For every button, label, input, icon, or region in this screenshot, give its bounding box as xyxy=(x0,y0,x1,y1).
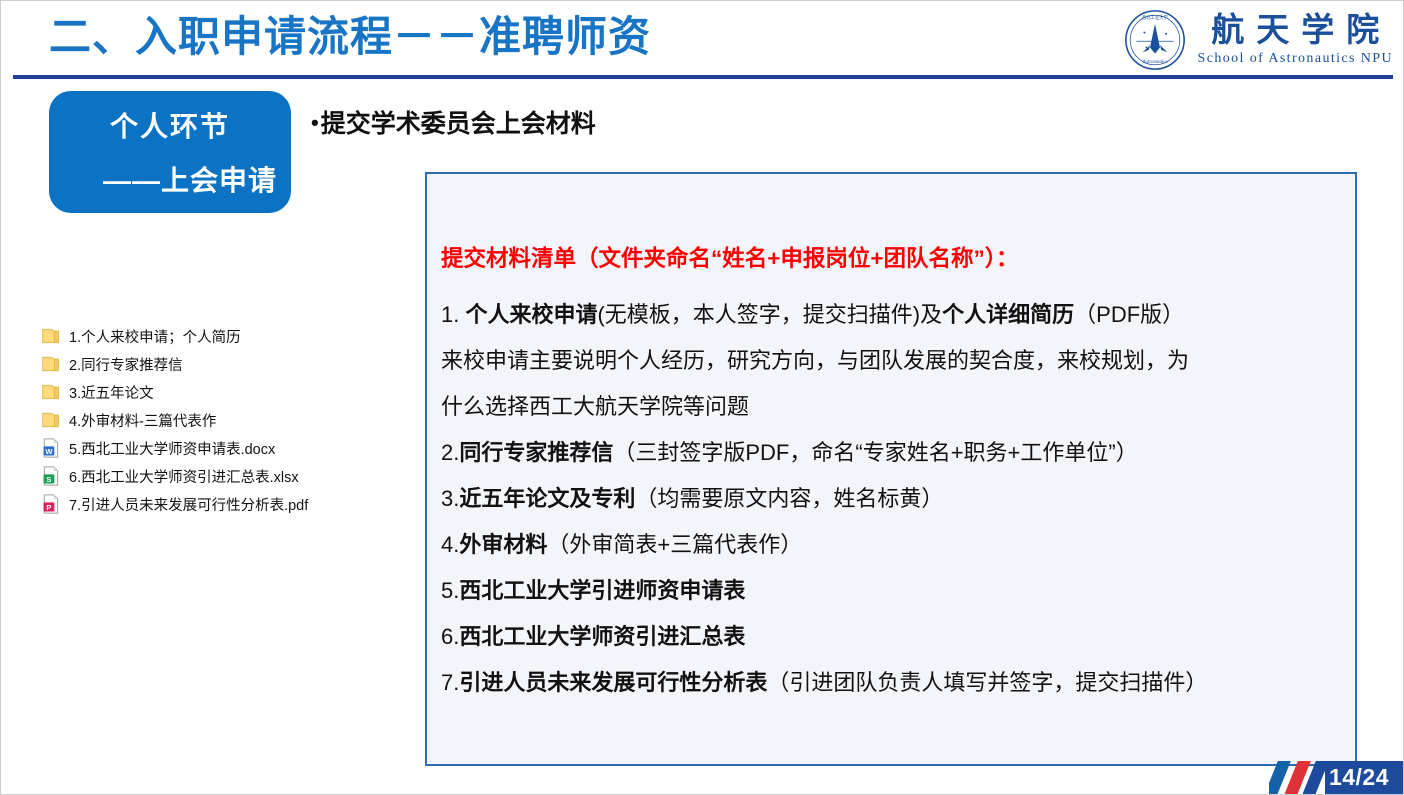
page-number-badge: 14/24 xyxy=(1269,761,1403,794)
npu-astronautics-seal-icon: Astronautics 西北工业大学 xyxy=(1124,9,1186,71)
file-list-item[interactable]: S6.西北工业大学师资引进汇总表.xlsx xyxy=(41,463,401,489)
checklist-line: 2.同行专家推荐信（三封签字版PDF，命名“专家姓名+职务+工作单位”） xyxy=(441,430,1337,476)
bullet-dot-icon: • xyxy=(311,110,319,135)
checklist-line: 1. 个人来校申请(无模板，本人签字，提交扫描件)及个人详细简历（PDF版） xyxy=(441,292,1337,338)
file-list-item-label: 7.引进人员未来发展可行性分析表.pdf xyxy=(69,494,308,515)
excel-file-icon: S xyxy=(41,466,61,486)
file-list-item[interactable]: 1.个人来校申请；个人简历 xyxy=(41,323,401,349)
checklist-line: 7.引进人员未来发展可行性分析表（引进团队负责人填写并签字，提交扫描件） xyxy=(441,660,1337,706)
slide-canvas: 二、入职申请流程－－准聘师资 Astronautics 西北工业大学 航天学院 … xyxy=(0,0,1404,795)
checklist-lines: 1. 个人来校申请(无模板，本人签字，提交扫描件)及个人详细简历（PDF版）来校… xyxy=(441,292,1337,706)
word-file-icon: W xyxy=(41,438,61,458)
school-logo: Astronautics 西北工业大学 航天学院 School of Astro… xyxy=(1124,7,1393,73)
materials-checklist-box: 提交材料清单（文件夹命名“姓名+申报岗位+团队名称”）： 1. 个人来校申请(无… xyxy=(425,172,1357,766)
stage-pill-line2: ——上会申请 xyxy=(63,159,277,199)
svg-text:W: W xyxy=(45,447,53,456)
checklist-line: 什么选择西工大航天学院等问题 xyxy=(441,384,1337,430)
logo-text: 航天学院 School of Astronautics NPU xyxy=(1198,15,1393,66)
file-list-item-label: 5.西北工业大学师资申请表.docx xyxy=(69,438,275,459)
logo-name-cn: 航天学院 xyxy=(1199,15,1391,48)
checklist-line: 4.外审材料（外审简表+三篇代表作） xyxy=(441,522,1337,568)
file-list-item[interactable]: 2.同行专家推荐信 xyxy=(41,351,401,377)
section-heading: •提交学术委员会上会材料 xyxy=(311,104,596,140)
file-list-item[interactable]: P7.引进人员未来发展可行性分析表.pdf xyxy=(41,491,401,517)
section-heading-text: 提交学术委员会上会材料 xyxy=(321,110,596,138)
file-list-item-label: 6.西北工业大学师资引进汇总表.xlsx xyxy=(69,466,299,487)
folder-icon xyxy=(41,410,61,430)
page-title: 二、入职申请流程－－准聘师资 xyxy=(49,13,651,61)
checklist-line: 3.近五年论文及专利（均需要原文内容，姓名标黄） xyxy=(441,476,1337,522)
stage-pill-line1: 个人环节 xyxy=(63,105,277,145)
file-list-item-label: 3.近五年论文 xyxy=(69,382,154,403)
file-list-item-label: 4.外审材料-三篇代表作 xyxy=(69,410,216,431)
checklist-heading: 提交材料清单（文件夹命名“姓名+申报岗位+团队名称”）： xyxy=(441,236,1337,282)
file-list-item[interactable]: 4.外审材料-三篇代表作 xyxy=(41,407,401,433)
svg-text:西北工业大学: 西北工业大学 xyxy=(1142,14,1169,21)
svg-text:S: S xyxy=(46,475,51,484)
checklist-line: 来校申请主要说明个人经历，研究方向，与团队发展的契合度，来校规划，为 xyxy=(441,338,1337,384)
stage-pill: 个人环节 ——上会申请 xyxy=(49,91,291,213)
svg-text:Astronautics: Astronautics xyxy=(1142,60,1167,65)
title-divider xyxy=(13,75,1393,79)
badge-slash-decoration xyxy=(1269,761,1325,794)
page-number-text: 14/24 xyxy=(1325,761,1403,794)
pdf-file-icon: P xyxy=(41,494,61,514)
folder-icon xyxy=(41,326,61,346)
file-list-item[interactable]: 3.近五年论文 xyxy=(41,379,401,405)
logo-name-en: School of Astronautics NPU xyxy=(1198,52,1393,66)
svg-text:P: P xyxy=(46,503,51,512)
file-list-item-label: 1.个人来校申请；个人简历 xyxy=(69,326,241,347)
folder-icon xyxy=(41,382,61,402)
file-list: 1.个人来校申请；个人简历2.同行专家推荐信3.近五年论文4.外审材料-三篇代表… xyxy=(41,323,401,519)
folder-icon xyxy=(41,354,61,374)
checklist-line: 6.西北工业大学师资引进汇总表 xyxy=(441,614,1337,660)
file-list-item-label: 2.同行专家推荐信 xyxy=(69,354,183,375)
file-list-item[interactable]: W5.西北工业大学师资申请表.docx xyxy=(41,435,401,461)
checklist-line: 5.西北工业大学引进师资申请表 xyxy=(441,568,1337,614)
